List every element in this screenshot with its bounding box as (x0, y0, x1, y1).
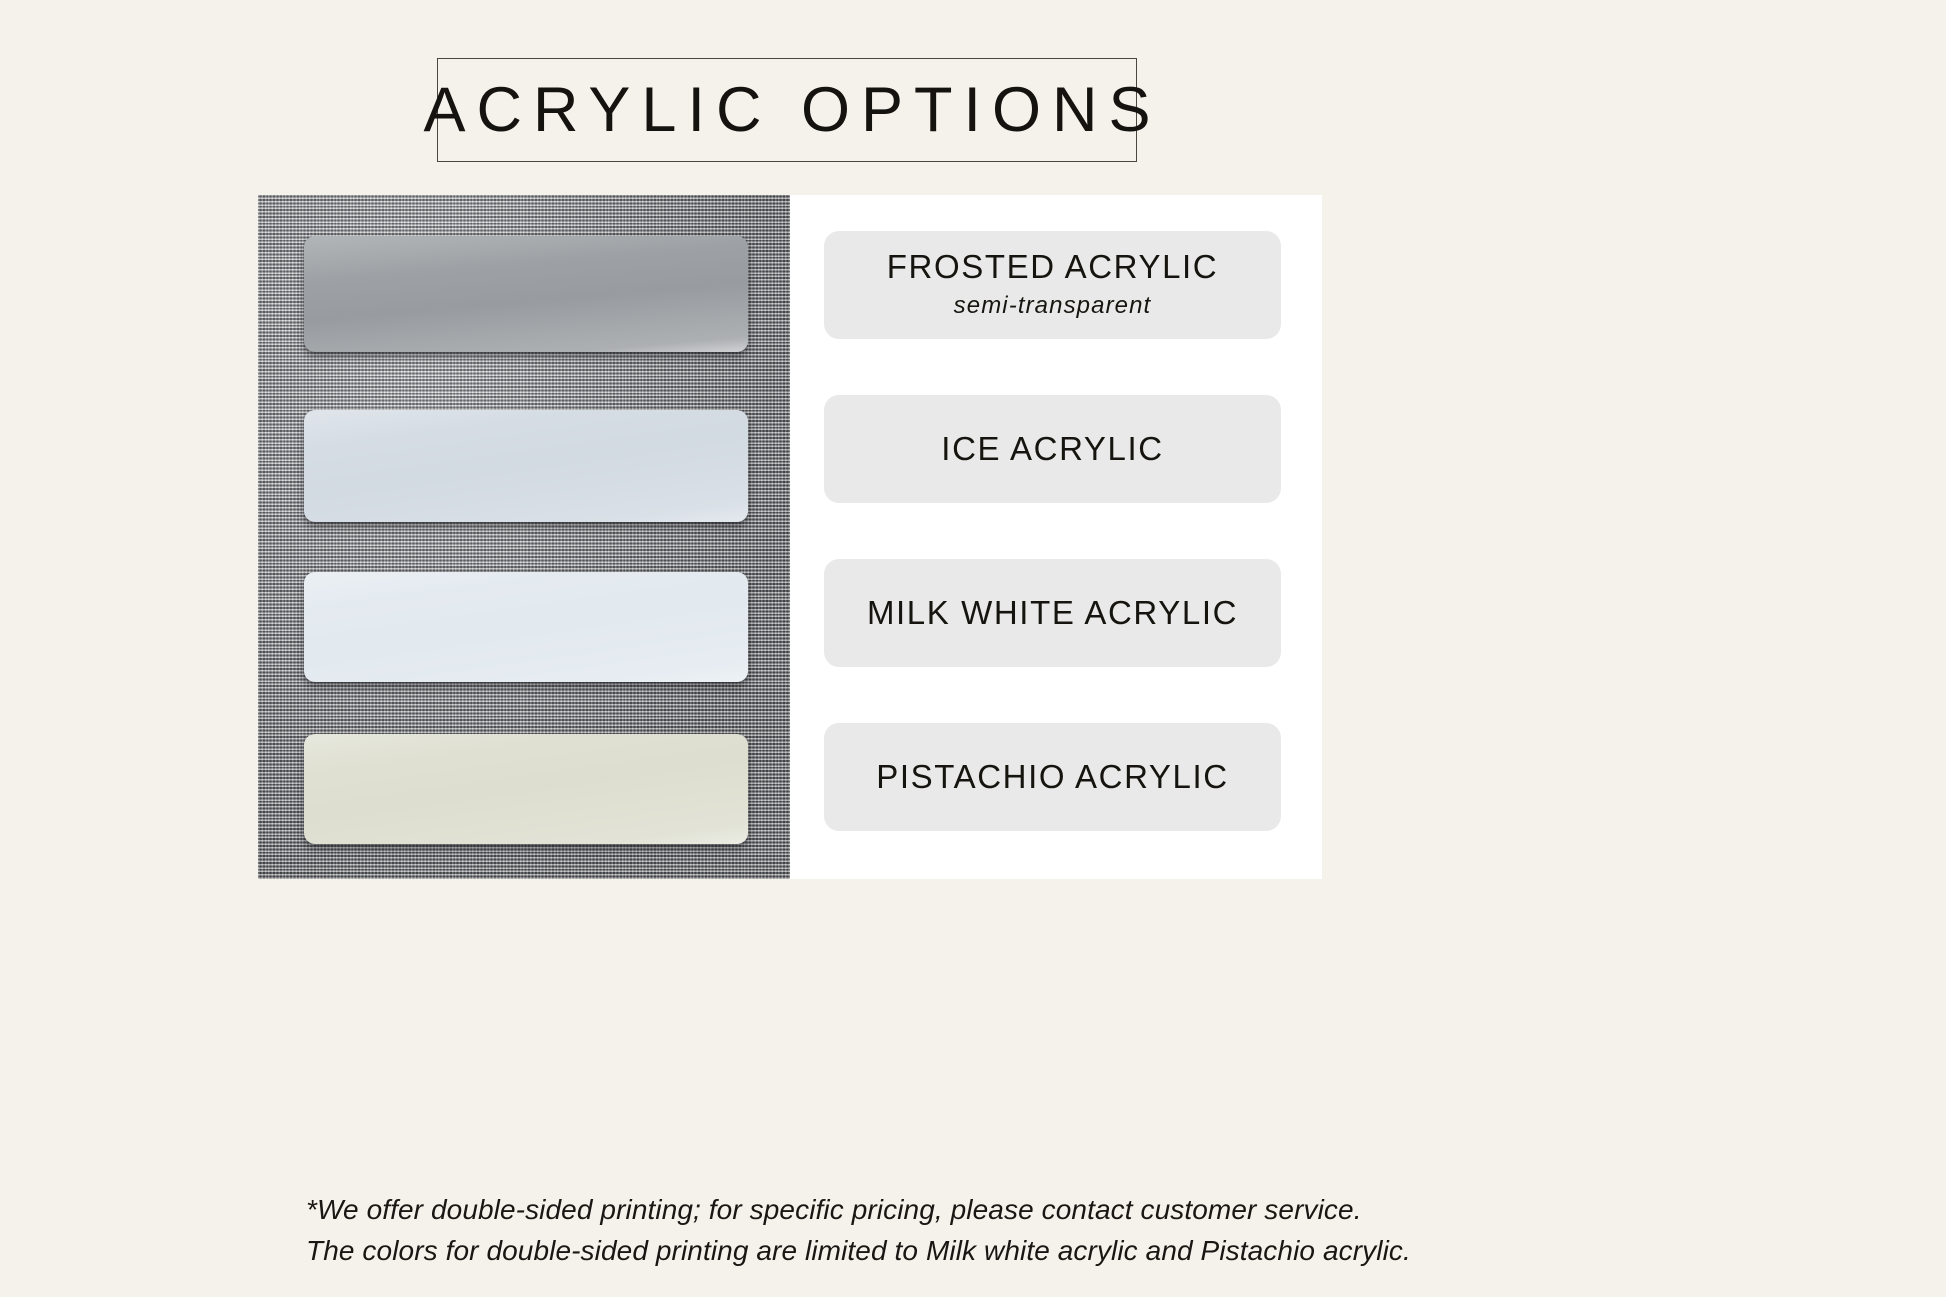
option-subtitle: semi-transparent (954, 290, 1152, 321)
product-showcase: FROSTED ACRYLIC semi-transparent ICE ACR… (258, 195, 1322, 879)
option-title: MILK WHITE ACRYLIC (867, 594, 1238, 632)
acrylic-samples-photo (258, 195, 790, 879)
option-title: ICE ACRYLIC (941, 430, 1163, 468)
option-title: PISTACHIO ACRYLIC (876, 758, 1228, 796)
page-title-box: ACRYLIC OPTIONS (437, 58, 1137, 162)
pistachio-acrylic-swatch (304, 734, 748, 844)
swatch-sheen-overlay (304, 572, 748, 682)
footnote-line-1: *We offer double-sided printing; for spe… (306, 1190, 1646, 1231)
option-title: FROSTED ACRYLIC (887, 248, 1218, 286)
frosted-acrylic-swatch (304, 236, 748, 352)
option-card-milk-white-acrylic[interactable]: MILK WHITE ACRYLIC (824, 559, 1281, 667)
milk-white-acrylic-swatch (304, 572, 748, 682)
option-card-frosted-acrylic[interactable]: FROSTED ACRYLIC semi-transparent (824, 231, 1281, 339)
ice-acrylic-swatch (304, 410, 748, 522)
option-card-pistachio-acrylic[interactable]: PISTACHIO ACRYLIC (824, 723, 1281, 831)
swatch-sheen-overlay (304, 410, 748, 522)
footnote-line-2: The colors for double-sided printing are… (306, 1231, 1646, 1272)
footnote: *We offer double-sided printing; for spe… (306, 1190, 1646, 1271)
swatch-sheen-overlay (304, 236, 748, 352)
swatch-sheen-overlay (304, 734, 748, 844)
option-card-ice-acrylic[interactable]: ICE ACRYLIC (824, 395, 1281, 503)
acrylic-options-list: FROSTED ACRYLIC semi-transparent ICE ACR… (790, 195, 1322, 879)
page-title: ACRYLIC OPTIONS (413, 79, 1162, 142)
